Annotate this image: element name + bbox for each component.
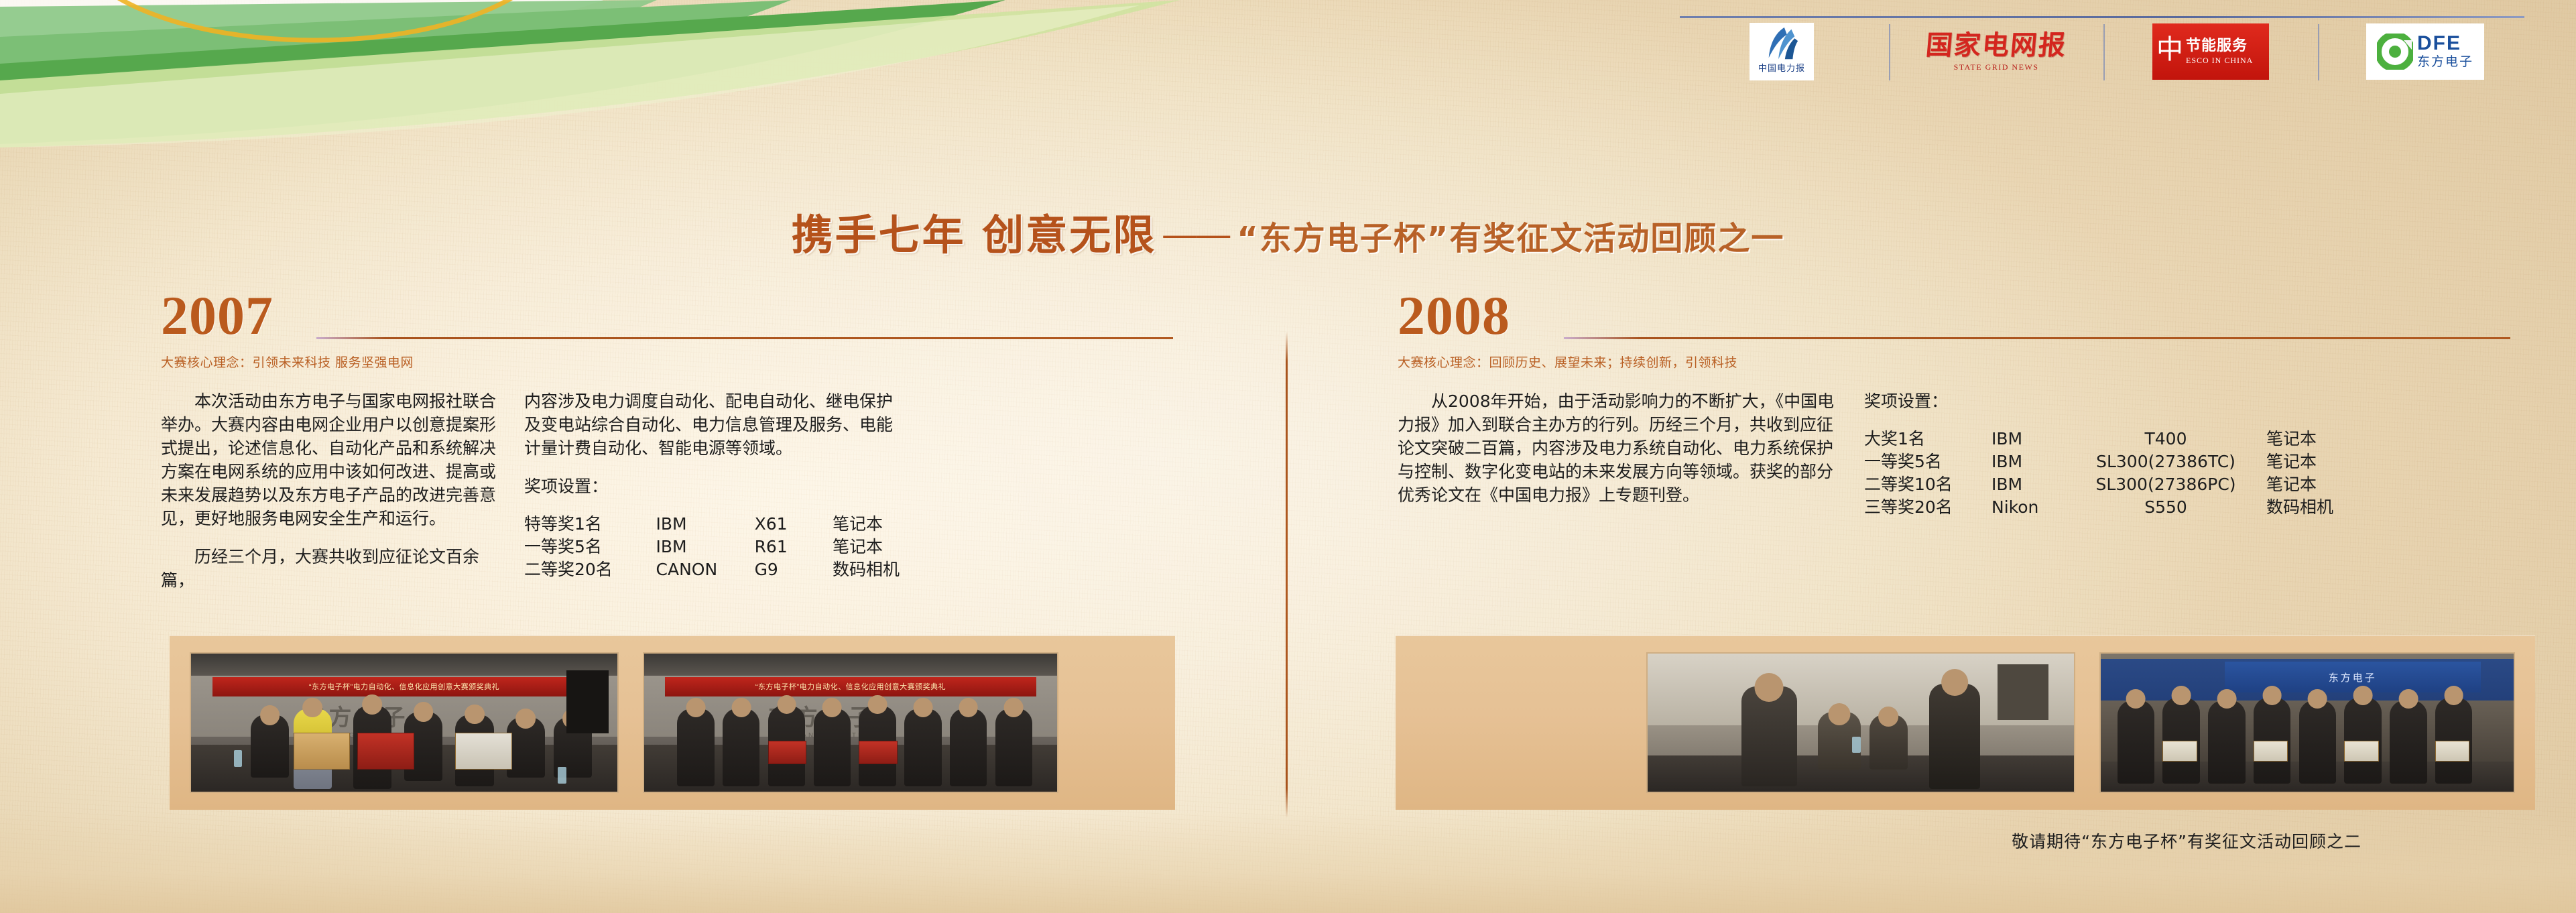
logo-dfe: DFE 东方电子 (2318, 21, 2532, 82)
award-prize: 数码相机 (2266, 496, 2333, 519)
award-rank: 三等奖20名 (1864, 496, 1991, 519)
award-ceremony-photo-2: 东方电子DONGFANG ELECTRONICS “东方电子杯”电力自动化、信息… (643, 652, 1058, 793)
award-brand: IBM (1991, 450, 2065, 473)
section-2007: 2007 大赛核心理念：引领未来科技 服务坚强电网 本次活动由东方电子与国家电网… (161, 288, 1173, 607)
award-prize: 笔记本 (2266, 450, 2333, 473)
award-brand: IBM (1991, 428, 2065, 450)
award-brand: IBM (656, 536, 755, 558)
logo-esco-zh: 节能服务 (2186, 38, 2253, 54)
cepn-mark-icon (1762, 25, 1801, 63)
photo-banner-text: 东方电子 (2225, 662, 2481, 692)
award-prize: 笔记本 (2266, 428, 2333, 450)
award-brand: IBM (656, 513, 755, 536)
paragraph: 内容涉及电力调度自动化、配电自动化、继电保护及变电站综合自动化、电力信息管理及服… (524, 389, 900, 460)
award-model: S550 (2065, 496, 2266, 519)
award-ceremony-photo-3 (1646, 652, 2075, 793)
year-rule-2008 (1564, 337, 2510, 339)
year-heading-2008: 2008 (1398, 288, 2510, 350)
logo-dfe-zh: 东方电子 (2417, 55, 2473, 70)
table-row: 特等奖1名 IBM X61 笔记本 (524, 513, 900, 536)
photo-band-2008: 东方电子 (1396, 635, 2535, 810)
headline-sub: “东方电子杯”有奖征文活动回顾之一 (1237, 220, 1784, 257)
logo-cepn-label: 中国电力报 (1758, 64, 1805, 73)
year-number-2007: 2007 (161, 288, 273, 343)
photo-banner-text: “东方电子杯”电力自动化、信息化应用创意大赛颁奖典礼 (212, 677, 596, 696)
table-row: 一等奖5名 IBM R61 笔记本 (524, 536, 900, 558)
logo-china-electric-power-news: 中国电力报 (1674, 21, 1889, 82)
award-ceremony-photo-4: 东方电子 (2099, 652, 2515, 793)
body-column-left-2007: 本次活动由东方电子与国家电网报社联合举办。大赛内容由电网企业用户以创意提案形式提… (161, 389, 509, 607)
award-rank: 大奖1名 (1864, 428, 1991, 450)
award-brand: CANON (656, 558, 755, 581)
motto-2007: 大赛核心理念：引领未来科技 服务坚强电网 (161, 353, 1173, 371)
body-column-right-2008: 奖项设置： 大奖1名 IBM T400 笔记本 一等奖5名 IBM SL300(… (1864, 389, 2400, 522)
table-row: 大奖1名 IBM T400 笔记本 (1864, 428, 2333, 450)
logo-esco-en: ESCO IN CHINA (2186, 56, 2253, 66)
award-prize: 数码相机 (833, 558, 900, 581)
award-brand: Nikon (1991, 496, 2065, 519)
award-prize: 笔记本 (2266, 473, 2333, 496)
year-number-2008: 2008 (1398, 288, 1510, 343)
esco-zhong-glyph-icon: 中 (2156, 38, 2183, 62)
body-column-right-2007: 内容涉及电力调度自动化、配电自动化、继电保护及变电站综合自动化、电力信息管理及服… (524, 389, 900, 607)
award-rank: 二等奖10名 (1864, 473, 1991, 496)
award-prize: 笔记本 (833, 536, 900, 558)
award-ceremony-photo-1: 东方电子DONGFANG ELECTRONICS “东方电子杯”电力自动化、信息… (190, 652, 619, 793)
paragraph: 历经三个月，大赛共收到应征论文百余篇， (161, 545, 509, 592)
award-prize: 笔记本 (833, 513, 900, 536)
table-row: 一等奖5名 IBM SL300(27386TC) 笔记本 (1864, 450, 2333, 473)
logo-sgn-en: STATE GRID NEWS (1954, 62, 2039, 72)
poster-headline: 携手七年 创意无限——“东方电子杯”有奖征文活动回顾之一 (0, 201, 2576, 261)
awards-table-2007: 特等奖1名 IBM X61 笔记本 一等奖5名 IBM R61 笔记本 二等奖2… (524, 513, 900, 581)
award-model: G9 (755, 558, 833, 581)
year-heading-2007: 2007 (161, 288, 1173, 350)
table-row: 二等奖20名 CANON G9 数码相机 (524, 558, 900, 581)
award-model: X61 (755, 513, 833, 536)
photo-banner-text (1669, 677, 2052, 696)
section-divider (1286, 332, 1288, 818)
logo-bar-rule (1680, 16, 2524, 18)
award-rank: 一等奖5名 (1864, 450, 1991, 473)
award-model: SL300(27386TC) (2065, 450, 2266, 473)
award-rank: 二等奖20名 (524, 558, 656, 581)
body-column-left-2008: 从2008年开始，由于活动影响力的不断扩大，《中国电力报》加入到联合主办方的行列… (1398, 389, 1840, 522)
logo-state-grid-news: 国家电网报 STATE GRID NEWS (1889, 21, 2103, 82)
award-model: T400 (2065, 428, 2266, 450)
awards-table-2008: 大奖1名 IBM T400 笔记本 一等奖5名 IBM SL300(27386T… (1864, 428, 2333, 519)
award-rank: 特等奖1名 (524, 513, 656, 536)
logo-sgn-zh: 国家电网报 (1924, 32, 2068, 60)
awards-title-2008: 奖项设置： (1864, 389, 2400, 413)
bottom-shade (0, 812, 2576, 913)
award-rank: 一等奖5名 (524, 536, 656, 558)
photo-band-2007: 东方电子DONGFANG ELECTRONICS “东方电子杯”电力自动化、信息… (170, 635, 1175, 810)
section-2008: 2008 大赛核心理念：回顾历史、展望未来；持续创新，引领科技 从2008年开始… (1398, 288, 2510, 522)
award-brand: IBM (1991, 473, 2065, 496)
paragraph: 本次活动由东方电子与国家电网报社联合举办。大赛内容由电网企业用户以创意提案形式提… (161, 389, 509, 530)
award-model: R61 (755, 536, 833, 558)
dfe-circle-icon (2377, 34, 2413, 70)
footnote-text: 敬请期待“东方电子杯”有奖征文活动回顾之二 (2012, 829, 2362, 853)
green-ribbon-decoration (0, 0, 1810, 147)
year-rule-2007 (316, 337, 1173, 339)
headline-dash: —— (1163, 215, 1230, 253)
logo-esco-in-china: 中 节能服务 ESCO IN CHINA (2103, 21, 2318, 82)
awards-title-2007: 奖项设置： (524, 475, 900, 498)
table-row: 三等奖20名 Nikon S550 数码相机 (1864, 496, 2333, 519)
partner-logo-bar: 中国电力报 国家电网报 STATE GRID NEWS 中 节能服务 ESCO … (1674, 4, 2539, 82)
logo-dfe-en: DFE (2417, 34, 2461, 54)
photo-banner-text: “东方电子杯”电力自动化、信息化应用创意大赛颁奖典礼 (665, 677, 1036, 696)
motto-2008: 大赛核心理念：回顾历史、展望未来；持续创新，引领科技 (1398, 353, 2510, 371)
table-row: 二等奖10名 IBM SL300(27386PC) 笔记本 (1864, 473, 2333, 496)
paragraph: 从2008年开始，由于活动影响力的不断扩大，《中国电力报》加入到联合主办方的行列… (1398, 389, 1840, 507)
award-model: SL300(27386PC) (2065, 473, 2266, 496)
headline-main: 携手七年 创意无限 (792, 210, 1157, 259)
